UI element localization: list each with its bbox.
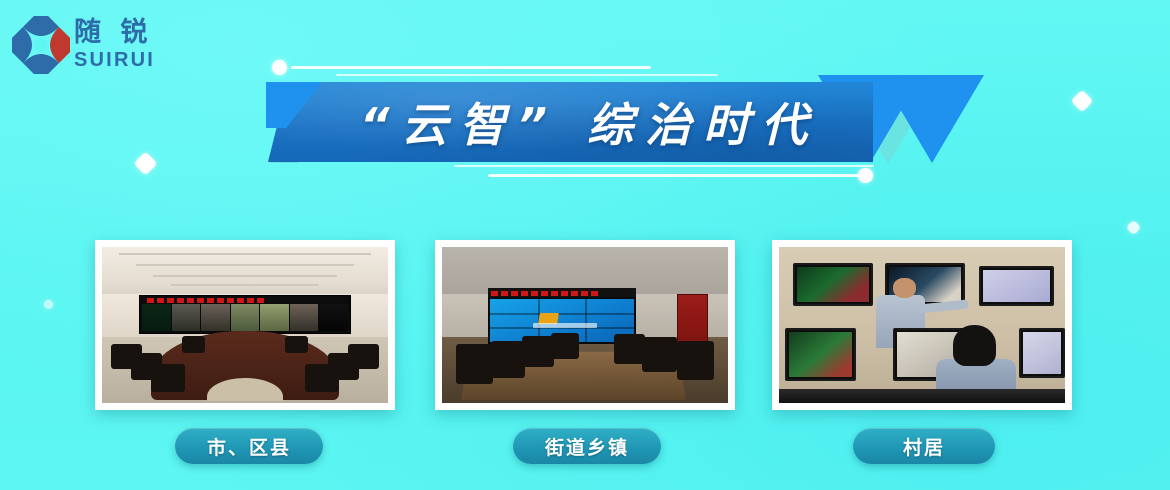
photo-village-monitoring-room <box>779 247 1065 403</box>
photo-detail <box>153 275 336 277</box>
photo-led-ticker <box>144 297 345 303</box>
banner-bottom-rule-1 <box>454 165 874 167</box>
decoration-diamond <box>1126 220 1142 236</box>
photo-windows-wordmark <box>533 323 597 329</box>
photo-video-wall <box>139 295 351 334</box>
brand-logo: 随 锐 SUIRUI <box>12 14 202 76</box>
photo-monitor <box>979 266 1053 307</box>
photo-command-conference-room <box>102 247 388 403</box>
brand-wordmark: 随 锐 SUIRUI <box>74 18 202 71</box>
card-street-township[interactable] <box>435 240 735 410</box>
photo-township-meeting-room <box>442 247 728 403</box>
banner-bottom-rule-2 <box>488 174 863 177</box>
banner-top-rule-1 <box>291 66 651 69</box>
card-village[interactable] <box>772 240 1072 410</box>
page-title: “云智” 综治时代 <box>268 82 873 162</box>
photo-monitor <box>1019 328 1065 378</box>
banner-top-rule-2 <box>336 74 718 76</box>
slide-canvas: 随 锐 SUIRUI “云智” 综治时代 <box>0 0 1170 490</box>
suirui-pinwheel-icon <box>12 16 70 74</box>
decoration-diamond <box>133 151 157 175</box>
decoration-diamond <box>1071 90 1094 113</box>
photo-seated-person-head <box>953 325 996 366</box>
photo-detail <box>171 284 320 286</box>
card-city-district[interactable] <box>95 240 395 410</box>
card-label-village[interactable]: 村居 <box>853 428 995 464</box>
photo-table-inner <box>207 378 283 401</box>
banner-bottom-dot <box>858 168 873 183</box>
photo-monitor <box>793 263 873 307</box>
photo-detail <box>136 264 353 266</box>
title-banner: “云智” 综治时代 <box>258 55 948 190</box>
photo-officer-head <box>893 278 916 298</box>
photo-video-wall-cells <box>142 304 347 331</box>
banner-top-dot <box>272 60 287 75</box>
brand-name-en: SUIRUI <box>74 49 202 71</box>
banner-triangle-front <box>880 75 984 163</box>
photo-desk <box>779 389 1065 403</box>
brand-name-cn: 随 锐 <box>74 18 202 48</box>
photo-monitor <box>785 328 857 381</box>
card-label-street-township[interactable]: 街道乡镇 <box>513 428 661 464</box>
card-label-city-district[interactable]: 市、区县 <box>175 428 323 464</box>
photo-detail <box>119 253 371 255</box>
card-row: 市、区县 街道乡镇 村居 <box>0 240 1170 490</box>
